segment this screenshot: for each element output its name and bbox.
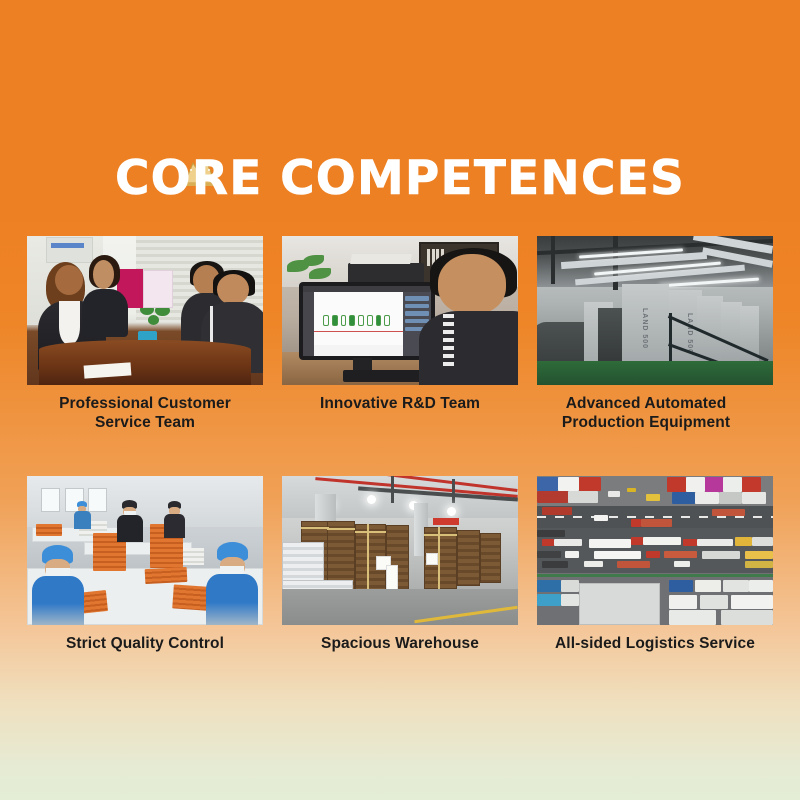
photo-production-equipment: LAND 500 LAND 500 [537, 236, 773, 385]
photo-warehouse [282, 476, 518, 625]
photo-logistics-service [537, 476, 773, 625]
caption-line-2: Production Equipment [537, 413, 755, 432]
caption-line-1: All-sided Logistics Service [537, 634, 773, 653]
competence-grid: Professional Customer Service Team [27, 236, 773, 653]
caption-quality-control: Strict Quality Control [27, 634, 263, 653]
competence-card-innovative-rd-team[interactable]: Innovative R&D Team [282, 236, 518, 432]
competence-card-advanced-automated-production-equipment[interactable]: LAND 500 LAND 500 Advanced Automated Pro… [537, 236, 773, 432]
caption-logistics-service: All-sided Logistics Service [537, 634, 773, 653]
caption-line-1: Innovative R&D Team [282, 394, 518, 413]
caption-customer-service-team: Professional Customer Service Team [27, 394, 263, 432]
competence-card-strict-quality-control[interactable]: Strict Quality Control [27, 476, 263, 653]
photo-rd-team [282, 236, 518, 385]
caption-line-1: Professional Customer [27, 394, 263, 413]
caption-line-1: Advanced Automated [537, 394, 755, 413]
poster-heading: CORE COMPETENCES [0, 150, 800, 208]
competence-row-2: Strict Quality Control [27, 476, 773, 653]
page-title: CORE COMPETENCES [115, 150, 685, 208]
competence-card-all-sided-logistics-service[interactable]: All-sided Logistics Service [537, 476, 773, 653]
caption-line-2: Service Team [27, 413, 263, 432]
competence-card-spacious-warehouse[interactable]: Spacious Warehouse [282, 476, 518, 653]
photo-customer-service-team [27, 236, 263, 385]
competence-row-1: Professional Customer Service Team [27, 236, 773, 432]
photo-quality-control [27, 476, 263, 625]
caption-line-1: Spacious Warehouse [282, 634, 518, 653]
core-competences-poster: CORE COMPETENCES [0, 0, 800, 800]
competence-card-professional-customer-service-team[interactable]: Professional Customer Service Team [27, 236, 263, 432]
caption-warehouse: Spacious Warehouse [282, 634, 518, 653]
caption-production-equipment: Advanced Automated Production Equipment [537, 394, 773, 432]
caption-rd-team: Innovative R&D Team [282, 394, 518, 413]
caption-line-1: Strict Quality Control [27, 634, 263, 653]
